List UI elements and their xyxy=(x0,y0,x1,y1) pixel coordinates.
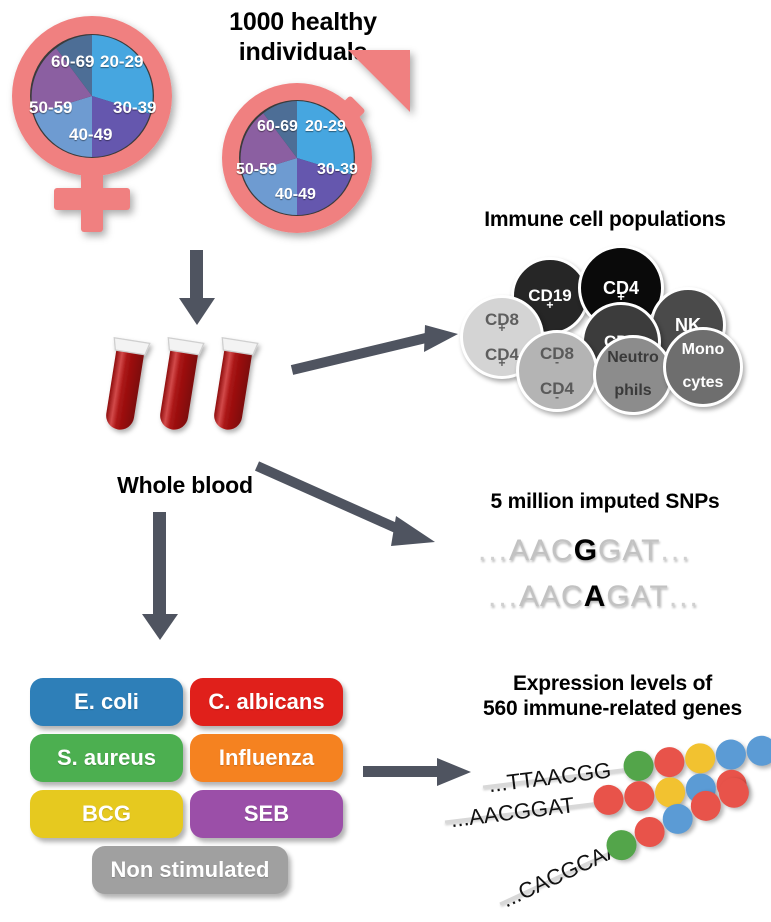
snp-suffix-1: ... xyxy=(661,534,692,567)
blood-tube xyxy=(208,338,258,433)
arrow-blood-to-snps xyxy=(255,460,445,560)
gene-bead xyxy=(622,749,655,782)
snp-suffix-2: ... xyxy=(669,580,700,613)
immune-cells-heading: Immune cell populations xyxy=(440,208,770,233)
stimulation-non-stimulated[interactable]: Non stimulated xyxy=(92,846,288,894)
cell-monocytes-line1: Mono xyxy=(682,342,725,358)
male-gender-symbol: 20-29 30-39 40-49 50-59 60-69 xyxy=(205,45,425,250)
whole-blood-tubes xyxy=(95,330,270,445)
cell-cd8neg-line1: CD8- xyxy=(540,345,574,363)
cell-monocytes: Mono cytes xyxy=(663,327,743,407)
stimulation-bcg-label: BCG xyxy=(82,801,131,827)
cell-cd8cd4-line1: CD8+ xyxy=(485,311,519,329)
snp-variant-2: A xyxy=(584,580,607,613)
stimulation-e-coli-label: E. coli xyxy=(74,689,139,715)
gene-bead xyxy=(714,738,747,771)
gene-bead xyxy=(683,742,716,775)
snp-sequence-row: ...AACGGAT... xyxy=(478,534,692,568)
cell-cd8neg-line2: CD4- xyxy=(540,380,574,398)
cell-neutrophils: Neutro phils xyxy=(593,335,673,415)
gene-expression-heading: Expression levels of 560 immune-related … xyxy=(455,672,770,722)
arrow-down-blood-to-stimulations xyxy=(138,512,182,642)
gene-expression-strands: ...TTAACGG ...AACGGAT ...CACGCAA xyxy=(455,740,771,915)
snp-right-2: GAT xyxy=(606,580,668,613)
snp-left-2: AAC xyxy=(519,580,584,613)
cell-neutrophils-line1: Neutro xyxy=(607,350,659,366)
arrow-blood-to-immune-cells xyxy=(290,325,465,380)
snps-heading: 5 million imputed SNPs xyxy=(445,490,765,515)
gene-bead xyxy=(623,779,656,812)
stimulation-non-stimulated-label: Non stimulated xyxy=(111,857,270,883)
stimulation-s-aureus[interactable]: S. aureus xyxy=(30,734,183,782)
gene-expression-heading-line2: 560 immune-related genes xyxy=(455,697,770,722)
stimulation-seb[interactable]: SEB xyxy=(190,790,343,838)
gene-bead xyxy=(745,734,771,767)
stimulation-influenza[interactable]: Influenza xyxy=(190,734,343,782)
figure-canvas: 1000 healthy individuals xyxy=(0,0,771,922)
cell-neutrophils-line2: phils xyxy=(607,383,659,399)
female-gender-symbol: 20-29 30-39 40-49 50-59 60-69 xyxy=(8,10,198,240)
snp-variant-1: G xyxy=(574,534,598,567)
cohort-heading-line1: 1000 healthy xyxy=(178,8,428,38)
stimulation-seb-label: SEB xyxy=(244,801,289,827)
gene-strand-sequence: ...CACGCAA xyxy=(498,836,624,913)
immune-cell-population-group: CD19+ CD4+ NK CD8+ CD8+ CD4+ CD8- CD4- N… xyxy=(460,245,760,415)
gene-bead xyxy=(592,783,625,816)
gene-bead xyxy=(653,745,686,778)
blood-tube xyxy=(100,338,150,433)
cell-monocytes-line2: cytes xyxy=(682,375,725,391)
snp-prefix-1: ... xyxy=(478,534,509,567)
gene-strand-sequence: ...AACGGAT xyxy=(449,792,576,833)
arrow-down-cohort-to-blood xyxy=(175,250,219,328)
stimulation-e-coli[interactable]: E. coli xyxy=(30,678,183,726)
snp-left-1: AAC xyxy=(509,534,574,567)
snp-right-1: GAT xyxy=(598,534,660,567)
snp-prefix-2: ... xyxy=(488,580,519,613)
cell-cd8cd4-line2: CD4+ xyxy=(485,346,519,364)
snp-sequence-row: ...AACAGAT... xyxy=(488,580,700,614)
stimulation-s-aureus-label: S. aureus xyxy=(57,745,156,771)
cell-cd8-cd4-double-negative: CD8- CD4- xyxy=(516,330,598,412)
gene-expression-heading-line1: Expression levels of xyxy=(455,672,770,697)
blood-tube xyxy=(154,338,204,433)
stimulation-conditions: E. coli C. albicans S. aureus Influenza … xyxy=(30,678,350,890)
stimulation-influenza-label: Influenza xyxy=(219,745,314,771)
stimulation-c-albicans[interactable]: C. albicans xyxy=(190,678,343,726)
stimulation-c-albicans-label: C. albicans xyxy=(208,689,324,715)
stimulation-bcg[interactable]: BCG xyxy=(30,790,183,838)
snp-sequences: ...AACGGAT... ...AACAGAT... xyxy=(478,534,748,624)
